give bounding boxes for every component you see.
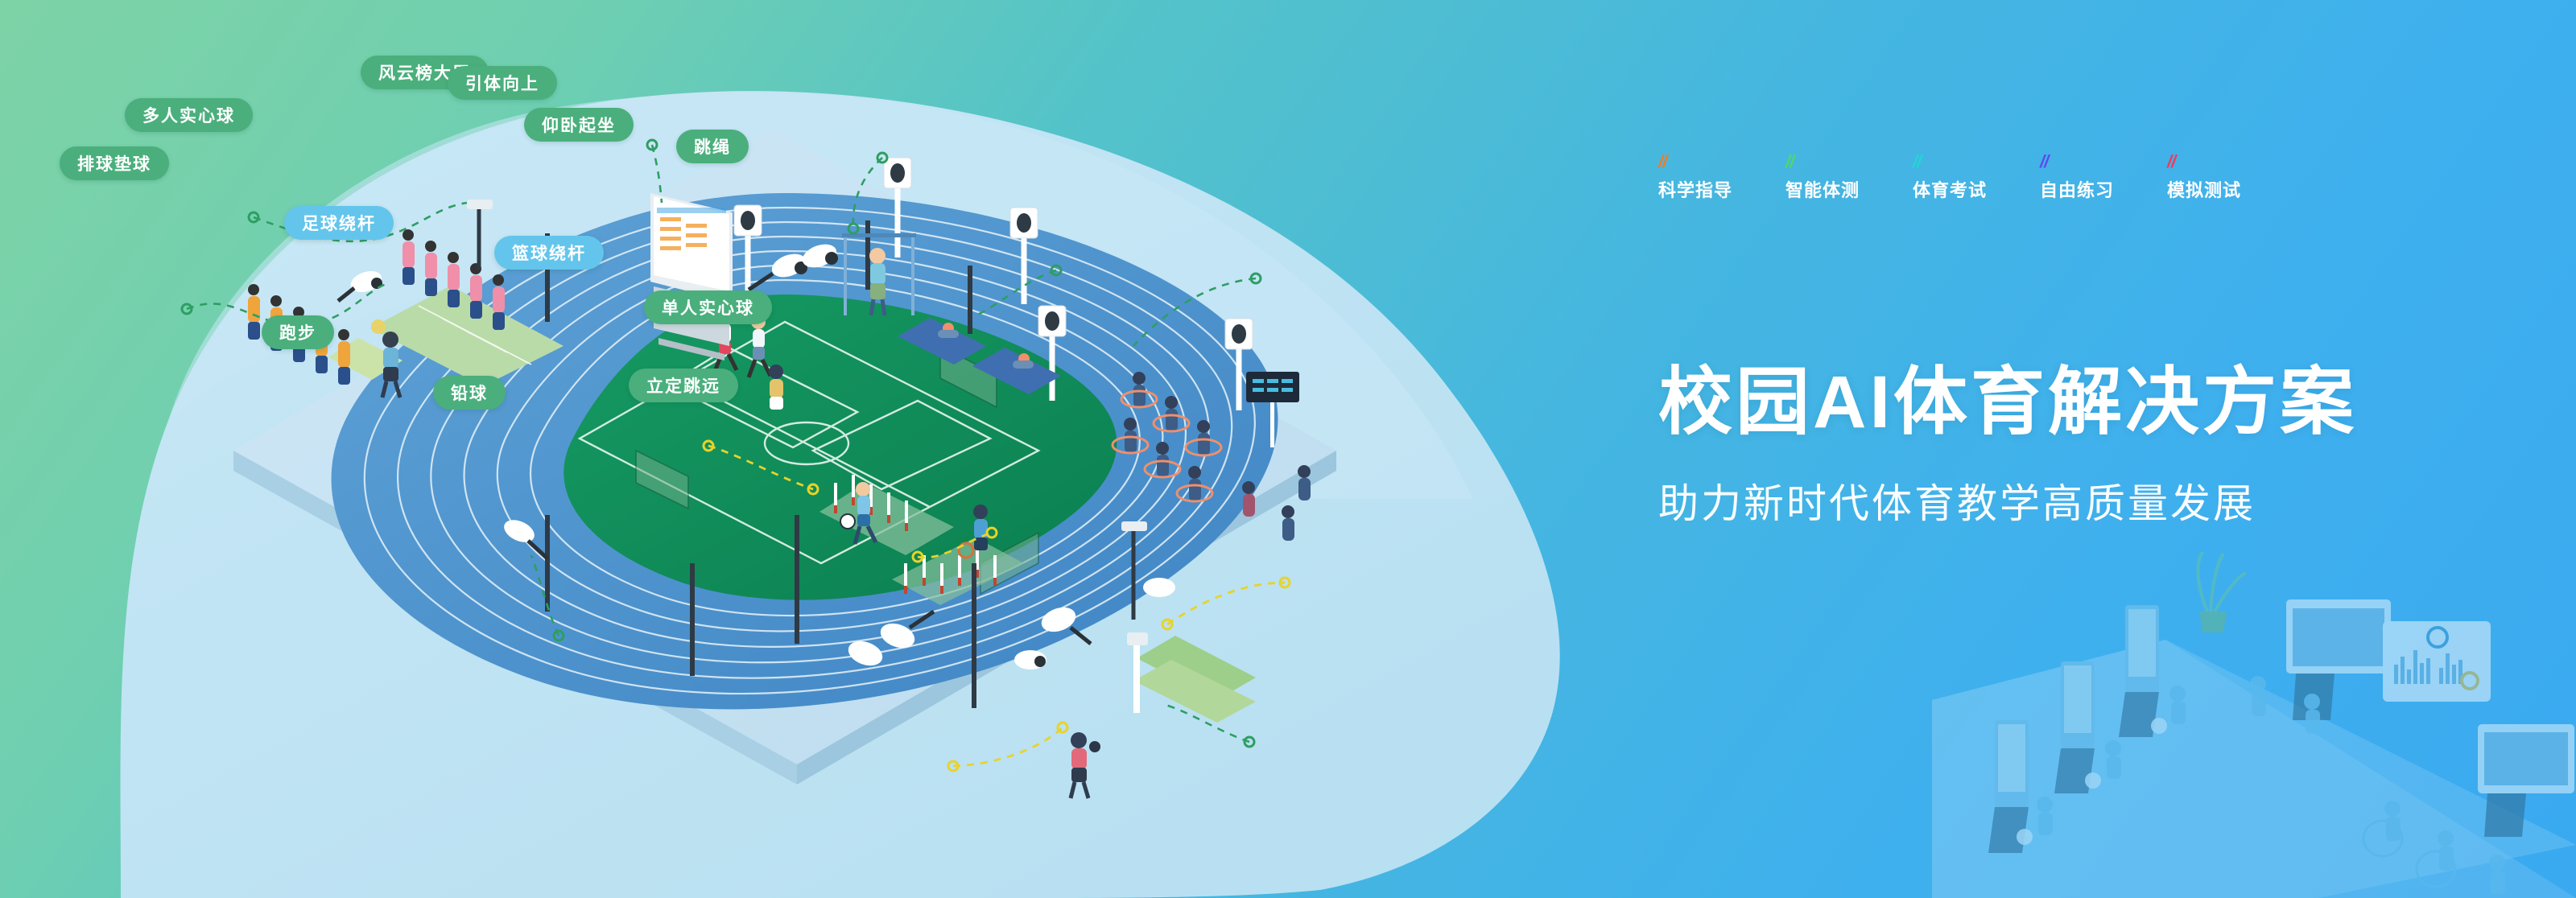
hero-banner: 排球垫球 多人实心球 风云榜大屏 引体向上 仰卧起坐 跳绳 足球绕杆 篮球绕杆 … bbox=[0, 0, 2576, 898]
feature-tag-label: 智能体测 bbox=[1785, 176, 1913, 202]
feature-tag-free-practice[interactable]: // 自由练习 bbox=[2040, 153, 2167, 202]
feature-tag-mock-test[interactable]: // 模拟测试 bbox=[2167, 153, 2294, 202]
slash-mark-icon: // bbox=[2040, 153, 2167, 171]
feature-tag-label: 体育考试 bbox=[1913, 176, 2040, 202]
slash-mark-icon: // bbox=[1785, 153, 1913, 171]
feature-tag-label: 模拟测试 bbox=[2167, 176, 2294, 202]
feature-tag-scientific-guidance[interactable]: // 科学指导 bbox=[1658, 153, 1785, 202]
feature-tag-smart-fitness-test[interactable]: // 智能体测 bbox=[1785, 153, 1913, 202]
feature-tag-label: 科学指导 bbox=[1658, 176, 1785, 202]
feature-tag-pe-exam[interactable]: // 体育考试 bbox=[1913, 153, 2040, 202]
slash-mark-icon: // bbox=[1913, 153, 2040, 171]
hero-text-pane: // 科学指导 // 智能体测 // 体育考试 // 自由练习 // 模拟测试 … bbox=[1658, 0, 2463, 898]
feature-tag-row: // 科学指导 // 智能体测 // 体育考试 // 自由练习 // 模拟测试 bbox=[1658, 153, 2294, 202]
slash-mark-icon: // bbox=[2167, 153, 2294, 171]
hero-subheadline: 助力新时代体育教学高质量发展 bbox=[1658, 472, 2256, 529]
jumping-rope bbox=[2489, 855, 2505, 895]
hero-headline: 校园AI体育解决方案 bbox=[1658, 364, 2357, 442]
feature-tag-label: 自由练习 bbox=[2040, 176, 2167, 202]
slash-mark-icon: // bbox=[1658, 153, 1785, 171]
